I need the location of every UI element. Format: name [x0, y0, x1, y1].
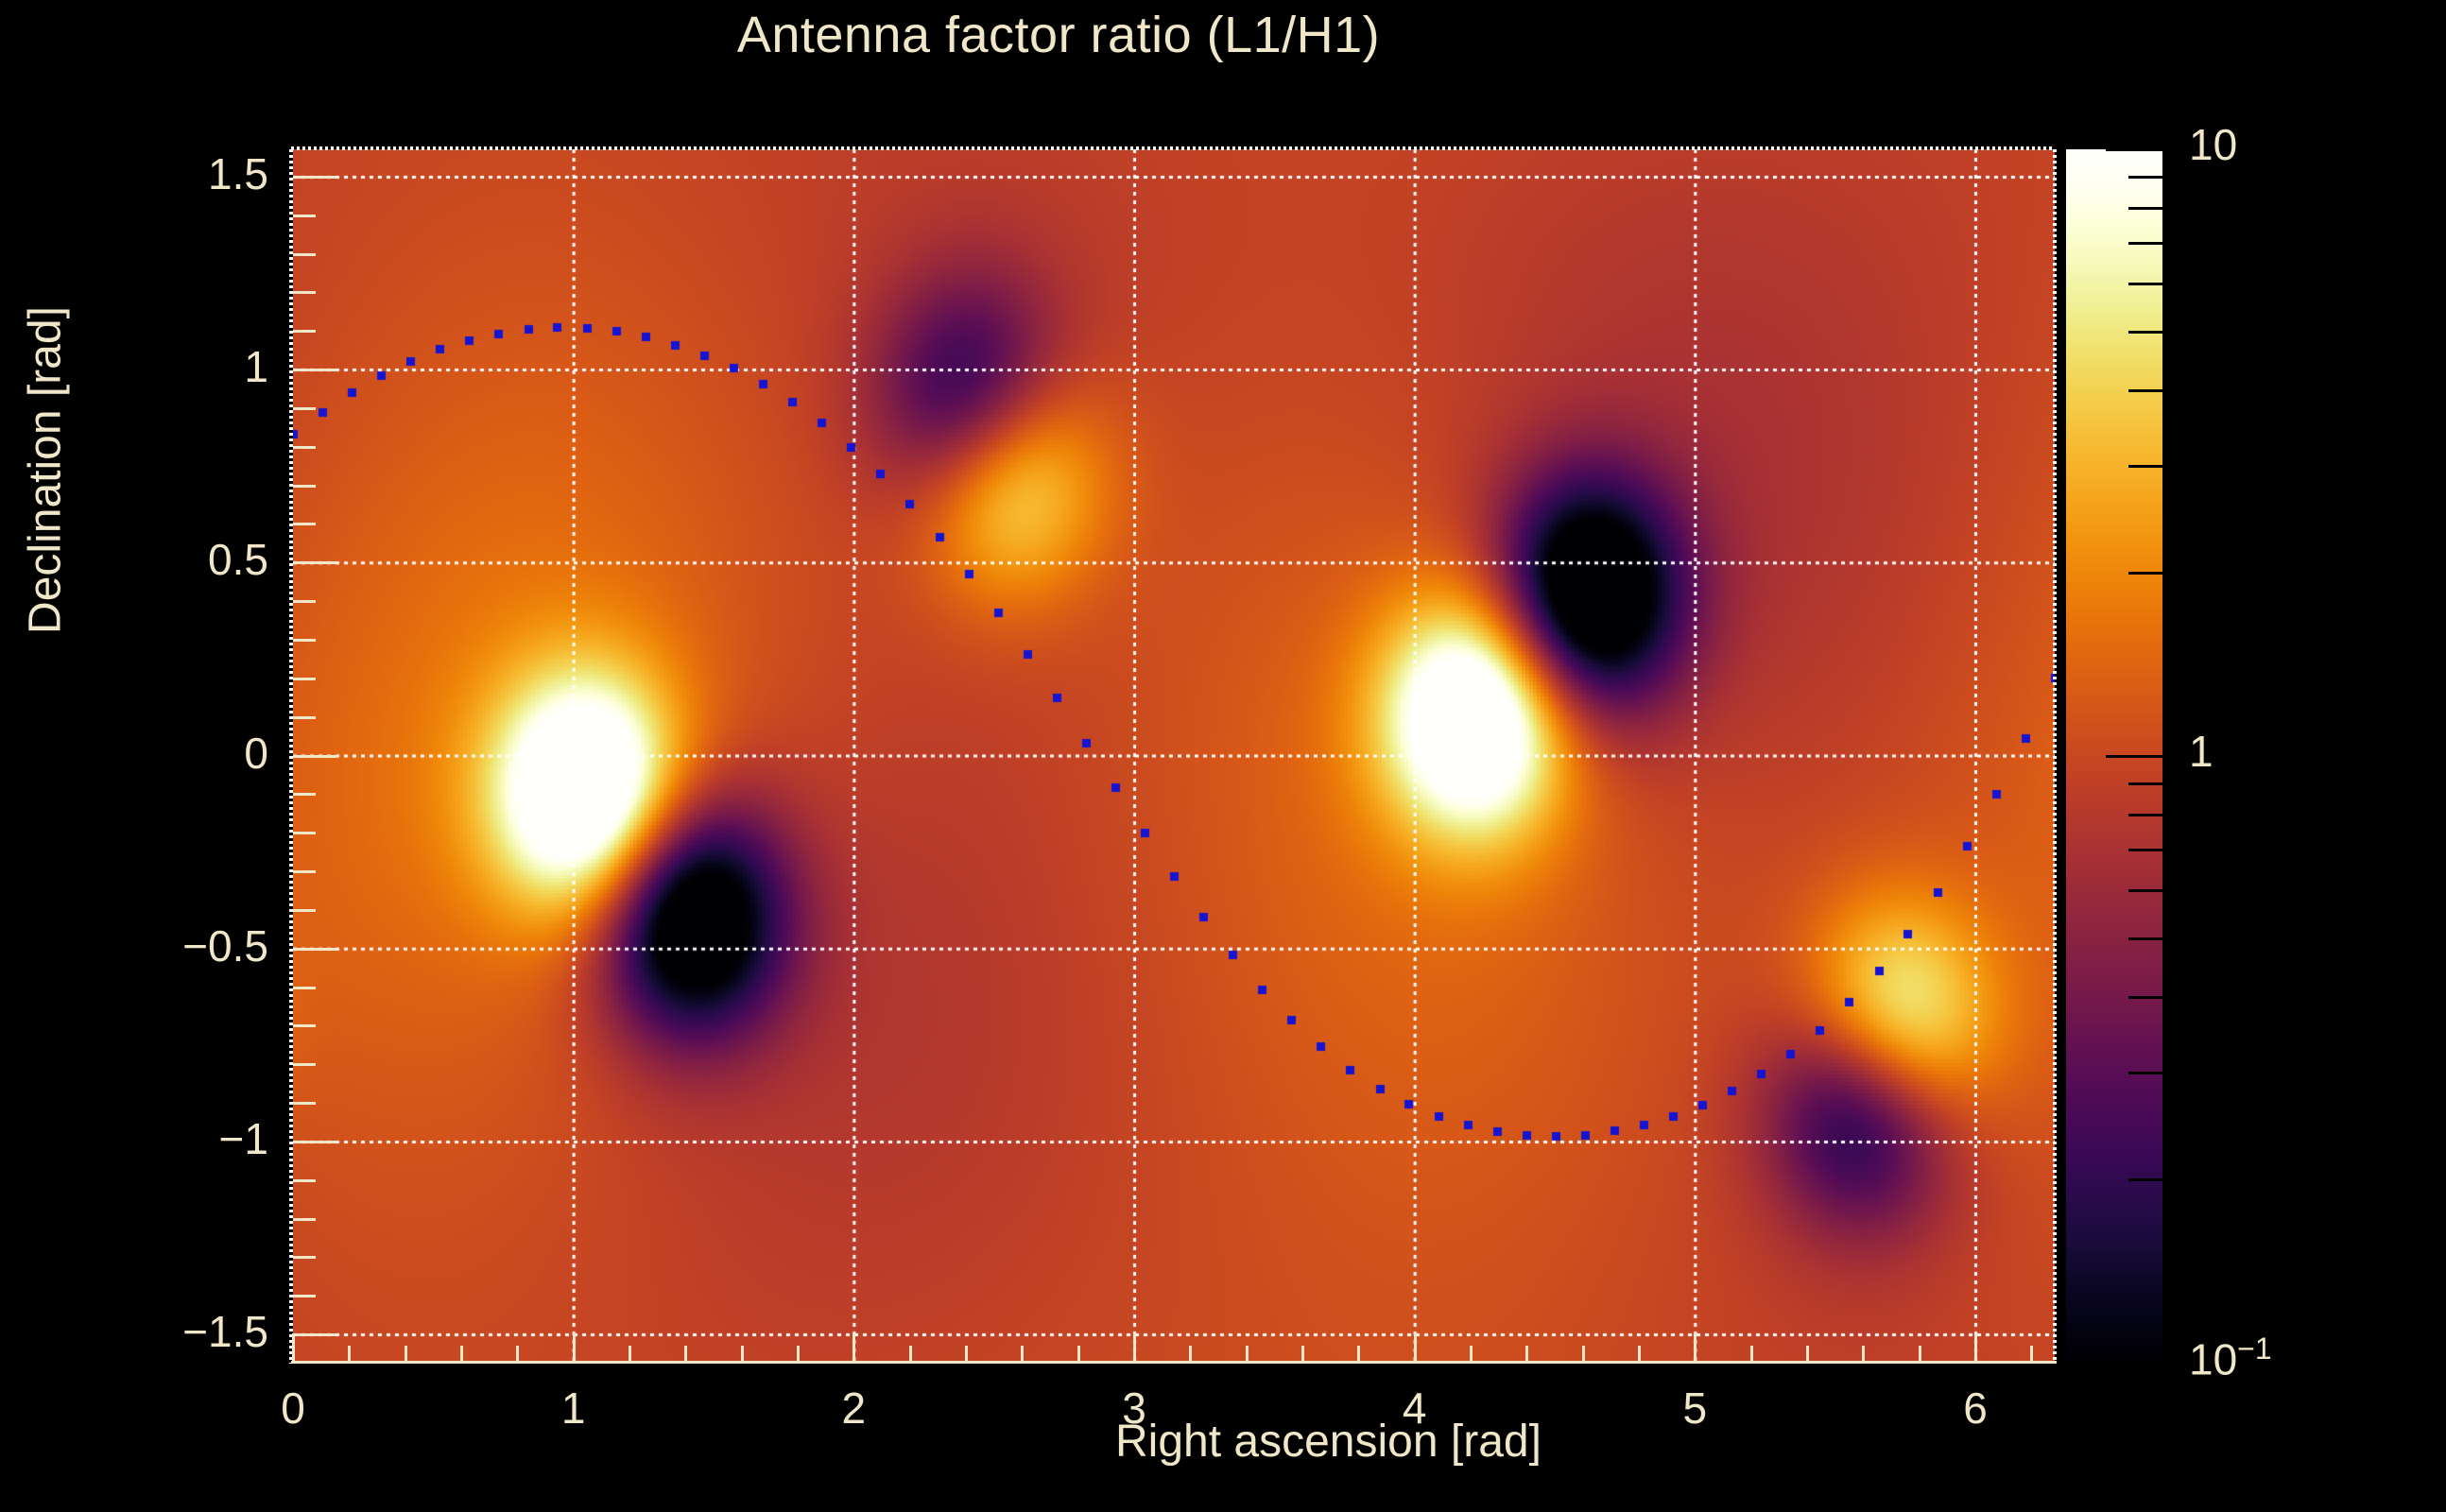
y-minor-tick — [293, 485, 316, 488]
colorbar-label-10: 10 — [2189, 119, 2237, 170]
x-minor-tick — [1862, 1346, 1865, 1362]
y-minor-tick — [293, 793, 316, 796]
y-tick-label: −1 — [117, 1113, 268, 1164]
y-minor-tick — [293, 639, 316, 642]
y-major-tick — [293, 948, 336, 951]
colorbar-minor-tick — [2128, 242, 2162, 245]
colorbar-minor-tick — [2128, 782, 2162, 785]
colorbar-major-tick — [2106, 1361, 2162, 1364]
colorbar-major-tick — [2106, 755, 2162, 758]
colorbar-minor-tick — [2128, 572, 2162, 575]
x-minor-tick — [1525, 1346, 1528, 1362]
colorbar-minor-tick — [2128, 207, 2162, 210]
y-minor-tick — [293, 407, 316, 410]
y-minor-tick — [293, 678, 316, 680]
x-major-tick — [1974, 1333, 1977, 1362]
x-major-tick — [853, 1333, 855, 1362]
colorbar-major-tick — [2106, 148, 2162, 151]
y-minor-tick — [293, 215, 316, 217]
x-tick-label: 2 — [797, 1383, 910, 1434]
colorbar-minor-tick — [2128, 465, 2162, 468]
colorbar-minor-tick — [2128, 849, 2162, 851]
x-major-tick — [1694, 1333, 1697, 1362]
x-minor-tick — [1021, 1346, 1024, 1362]
y-minor-tick — [293, 253, 316, 256]
y-tick-label: −1.5 — [117, 1306, 268, 1357]
x-minor-tick — [1301, 1346, 1304, 1362]
x-minor-tick — [797, 1346, 800, 1362]
y-minor-tick — [293, 1024, 316, 1027]
y-minor-tick — [293, 523, 316, 525]
y-minor-tick — [293, 716, 316, 719]
top-axis-line — [291, 146, 2055, 150]
colorbar-minor-tick — [2128, 176, 2162, 179]
y-major-tick — [293, 369, 336, 371]
x-minor-tick — [965, 1346, 968, 1362]
x-minor-tick — [684, 1346, 687, 1362]
x-minor-tick — [1470, 1346, 1473, 1362]
x-minor-tick — [1189, 1346, 1192, 1362]
y-minor-tick — [293, 1179, 316, 1182]
y-minor-tick — [293, 909, 316, 912]
y-tick-label: 1 — [117, 341, 268, 392]
colorbar-minor-tick — [2128, 1178, 2162, 1181]
colorbar-minor-tick — [2128, 389, 2162, 392]
x-minor-tick — [1638, 1346, 1641, 1362]
colorbar-minor-tick — [2128, 283, 2162, 285]
y-tick-label: −0.5 — [117, 920, 268, 971]
colorbar-minor-tick — [2128, 937, 2162, 940]
x-minor-tick — [2030, 1346, 2033, 1362]
y-minor-tick — [293, 987, 316, 989]
y-minor-tick — [293, 832, 316, 834]
x-minor-tick — [1582, 1346, 1585, 1362]
y-tick-label: 0 — [117, 728, 268, 779]
x-minor-tick — [909, 1346, 912, 1362]
x-minor-tick — [1077, 1346, 1080, 1362]
y-tick-label: 0.5 — [117, 534, 268, 585]
y-major-tick — [293, 1333, 336, 1336]
y-major-tick — [293, 561, 336, 564]
grid-and-curve-overlay — [293, 149, 2055, 1362]
x-major-tick — [573, 1333, 576, 1362]
y-minor-tick — [293, 1256, 316, 1259]
y-axis-title: Declination [rad] — [20, 178, 72, 764]
y-major-tick — [293, 176, 336, 179]
x-minor-tick — [1357, 1346, 1360, 1362]
y-minor-tick — [293, 330, 316, 333]
y-minor-tick — [293, 446, 316, 449]
x-major-tick — [1133, 1333, 1136, 1362]
colorbar-minor-tick — [2128, 331, 2162, 334]
figure-canvas: Antenna factor ratio (L1/H1) 0123456 −1.… — [0, 0, 2446, 1512]
x-minor-tick — [348, 1346, 351, 1362]
x-minor-tick — [741, 1346, 744, 1362]
x-minor-tick — [405, 1346, 407, 1362]
x-minor-tick — [1750, 1346, 1753, 1362]
x-minor-tick — [1919, 1346, 1921, 1362]
y-major-tick — [293, 1141, 336, 1143]
y-minor-tick — [293, 1218, 316, 1221]
x-major-tick — [1414, 1333, 1417, 1362]
x-tick-label: 1 — [517, 1383, 630, 1434]
colorbar-minor-tick — [2128, 1072, 2162, 1074]
y-minor-tick — [293, 1063, 316, 1066]
colorbar-label-1: 1 — [2189, 726, 2213, 777]
figure-title: Antenna factor ratio (L1/H1) — [0, 6, 2117, 64]
y-minor-tick — [293, 870, 316, 873]
x-minor-tick — [460, 1346, 463, 1362]
y-minor-tick — [293, 600, 316, 603]
y-minor-tick — [293, 1295, 316, 1297]
x-tick-label: 0 — [236, 1383, 350, 1434]
colorbar-minor-tick — [2128, 814, 2162, 816]
heatmap-plot-area — [293, 149, 2055, 1362]
x-major-tick — [292, 1333, 295, 1362]
x-minor-tick — [629, 1346, 631, 1362]
colorbar-minor-tick — [2128, 889, 2162, 892]
colorbar-label-0.1: 10−1 — [2189, 1332, 2272, 1384]
x-axis-line — [291, 1361, 2057, 1364]
y-tick-label: 1.5 — [117, 148, 268, 199]
y-major-tick — [293, 755, 336, 758]
x-minor-tick — [516, 1346, 519, 1362]
x-axis-title: Right ascension [rad] — [1115, 1416, 1966, 1468]
x-minor-tick — [1246, 1346, 1249, 1362]
colorbar-minor-tick — [2128, 996, 2162, 999]
x-minor-tick — [1806, 1346, 1809, 1362]
right-axis-line — [2053, 149, 2057, 1364]
y-minor-tick — [293, 1102, 316, 1105]
y-minor-tick — [293, 291, 316, 294]
